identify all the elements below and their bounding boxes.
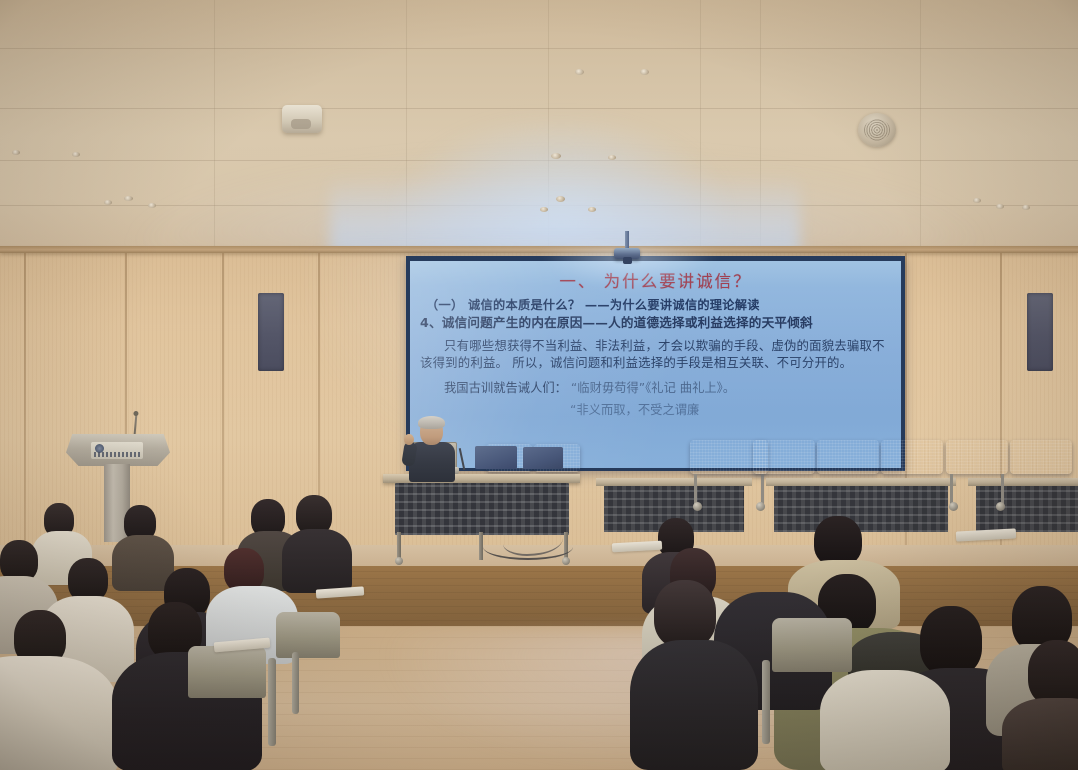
downlight: [124, 196, 133, 201]
chair-frame: [268, 658, 276, 746]
downlight: [575, 69, 584, 75]
stage-chair[interactable]: [753, 440, 815, 500]
quote-1-text: “临财毋苟得”《礼记 曲礼上》。: [571, 381, 735, 395]
slide-paragraph-1: 只有哪些想获得不当利益、非法利益，才会以欺骗的手段、虚伪的面貌去骗取不该得到的利…: [420, 337, 891, 371]
audience-chair[interactable]: [188, 646, 266, 698]
lecture-hall-photo: 一、 为什么要讲诚信？ （一） 诚信的本质是什么？ ——为什么要讲诚信的理论解读…: [0, 0, 1078, 770]
downlight: [551, 153, 561, 159]
downlight: [608, 155, 616, 160]
podium-nameplate-text: [94, 452, 140, 457]
downlight: [588, 207, 596, 212]
downlight: [12, 150, 20, 155]
head-table: [383, 474, 580, 556]
stage-chair[interactable]: [1010, 440, 1072, 500]
acoustic-panel: [258, 293, 284, 371]
laptop-icon: [475, 446, 517, 469]
smoke-detector-icon: [282, 105, 322, 133]
writing-tablet: [316, 586, 365, 598]
downlight: [640, 69, 649, 75]
downlight: [540, 207, 548, 212]
downlight: [1022, 205, 1030, 210]
acoustic-panel: [1027, 293, 1053, 371]
laptop-icon: [523, 447, 563, 469]
audience-row-front-left: [0, 600, 330, 770]
slide-subtitle: （一） 诚信的本质是什么？ ——为什么要讲诚信的理论解读: [426, 295, 891, 313]
writing-tablet: [612, 541, 662, 553]
downlight: [148, 203, 156, 208]
downlight: [996, 204, 1004, 209]
quote-intro-text: 我国古训就告诫人们：: [444, 381, 567, 395]
writing-tablet: [956, 528, 1016, 541]
slide-quote-2: “非义而取，不受之谓廉: [420, 400, 891, 418]
stage-chair[interactable]: [817, 440, 879, 500]
projector-icon: [614, 241, 640, 263]
audience-front-center: [640, 580, 800, 770]
slide-quote-intro: 我国古训就告诫人们： “临财毋苟得”《礼记 曲礼上》。: [420, 378, 891, 396]
slide-point-number: 4、诚信问题产生的内在原因——人的道德选择或利益选择的天平倾斜: [420, 315, 891, 331]
presenter: [404, 418, 460, 480]
downlight: [104, 200, 112, 205]
ceiling-speaker-icon: [858, 113, 896, 147]
downlight: [72, 152, 80, 157]
stage-chair[interactable]: [881, 440, 943, 500]
downlight: [973, 198, 981, 203]
ceiling: [0, 0, 1078, 248]
downlight: [556, 196, 565, 202]
